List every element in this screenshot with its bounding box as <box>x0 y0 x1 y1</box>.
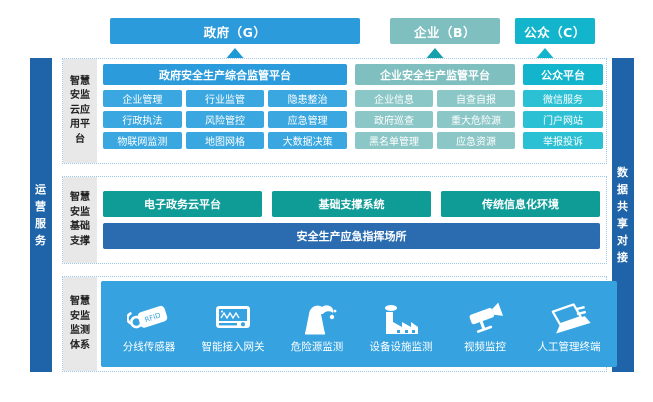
platform-title-public[interactable]: 公众平台 <box>523 64 603 85</box>
layer-1-label-line: 台 <box>75 133 85 148</box>
module-item[interactable]: 地图网格 <box>186 132 265 149</box>
node-label: 分线传感器 <box>123 339 176 354</box>
node-label: 智能接入网关 <box>202 339 265 354</box>
sidebar-operation-service: 运 营 服 务 <box>30 58 52 372</box>
rfid-tag-icon: RFID <box>127 294 171 336</box>
module-item[interactable]: 举报投诉 <box>523 132 603 149</box>
module-item[interactable]: 微信服务 <box>523 90 603 107</box>
layer-monitoring-system: 智慧 安监 监测 体系 RFID <box>62 276 607 372</box>
monitoring-node[interactable]: 智能接入网关 <box>191 294 275 354</box>
layer-2-label-line: 安监 <box>70 206 90 221</box>
layer-1-label-line: 用平 <box>70 118 90 133</box>
monitoring-node[interactable]: 危险源监测 <box>275 294 359 354</box>
enterprise-module-grid: 企业信息 自查自报 政府巡查 重大危险源 黑名单管理 应急资源 <box>355 90 515 149</box>
node-label: 危险源监测 <box>291 339 344 354</box>
node-label: 设备设施监测 <box>370 339 433 354</box>
platform-title-government[interactable]: 政府安全生产综合监管平台 <box>103 64 347 85</box>
column-public-platform: 公众平台 微信服务 门户网站 举报投诉 <box>523 64 603 158</box>
module-item[interactable]: 应急管理 <box>268 111 347 128</box>
hazard-source-icon <box>296 294 338 336</box>
emergency-command-center-bar[interactable]: 安全生产应急指挥场所 <box>103 223 600 249</box>
layer-basic-support: 智慧 安监 基础 支撑 电子政务云平台 基础支撑系统 传统信息化环境 安全生产应… <box>62 176 607 264</box>
monitoring-node-row: RFID 分线传感器 <box>101 281 617 367</box>
layer-1-label-line: 云应 <box>70 104 90 119</box>
module-item[interactable]: 企业信息 <box>355 90 433 107</box>
module-item[interactable]: 黑名单管理 <box>355 132 433 149</box>
node-label: 人工管理终端 <box>538 339 601 354</box>
stakeholder-header-row: 政府（G） 企业（B） 公众（C） <box>0 18 653 46</box>
gateway-device-icon <box>212 294 254 336</box>
layer-3-label: 智慧 安监 监测 体系 <box>63 277 97 371</box>
module-item[interactable]: 自查自报 <box>437 90 515 107</box>
module-item[interactable]: 风险管控 <box>186 111 265 128</box>
header-public[interactable]: 公众（C） <box>515 18 595 44</box>
module-item[interactable]: 物联网监测 <box>103 132 182 149</box>
layer-2-body: 电子政务云平台 基础支撑系统 传统信息化环境 安全生产应急指挥场所 <box>97 177 606 263</box>
layer-3-label-line: 监测 <box>70 324 90 339</box>
module-item[interactable]: 行业监管 <box>186 90 265 107</box>
module-item[interactable]: 门户网站 <box>523 111 603 128</box>
node-label: 视频监控 <box>464 339 506 354</box>
sidebar-left-char: 务 <box>35 232 47 249</box>
support-system-box[interactable]: 传统信息化环境 <box>441 191 600 217</box>
module-item[interactable]: 重大危险源 <box>437 111 515 128</box>
factory-icon <box>380 294 422 336</box>
layer-3-label-line: 安监 <box>70 310 90 325</box>
monitoring-node[interactable]: 人工管理终端 <box>527 294 611 354</box>
support-system-box[interactable]: 基础支撑系统 <box>272 191 431 217</box>
layer-1-label-line: 安监 <box>70 89 90 104</box>
layer-2-label-line: 智慧 <box>70 191 90 206</box>
layer-2-label-line: 支撑 <box>70 235 90 250</box>
architecture-diagram: 政府（G） 企业（B） 公众（C） 运 营 服 务 数 据 共 享 对 接 智慧… <box>0 0 653 402</box>
sidebar-right-char: 享 <box>617 215 629 232</box>
sidebar-right-char: 共 <box>617 198 629 215</box>
header-enterprise[interactable]: 企业（B） <box>390 18 500 44</box>
layer-3-label-line: 体系 <box>70 339 90 354</box>
layer-cloud-application-platform: 智慧 安监 云应 用平 台 政府安全生产综合监管平台 企业管理 行业监管 隐患整… <box>62 58 607 164</box>
layer-1-body: 政府安全生产综合监管平台 企业管理 行业监管 隐患整治 行政执法 风险管控 应急… <box>97 59 609 163</box>
cctv-camera-icon <box>464 294 506 336</box>
module-item[interactable]: 政府巡查 <box>355 111 433 128</box>
sidebar-right-char: 对 <box>617 232 629 249</box>
module-item[interactable]: 应急资源 <box>437 132 515 149</box>
sidebar-left-char: 服 <box>35 215 47 232</box>
sidebar-right-char: 接 <box>617 249 629 266</box>
monitoring-node[interactable]: RFID 分线传感器 <box>107 294 191 354</box>
column-government-platform: 政府安全生产综合监管平台 企业管理 行业监管 隐患整治 行政执法 风险管控 应急… <box>103 64 347 158</box>
sidebar-right-char: 数 <box>617 164 629 181</box>
module-item[interactable]: 大数据决策 <box>268 132 347 149</box>
layer-3-body: RFID 分线传感器 <box>97 277 621 371</box>
layer-3-label-line: 智慧 <box>70 295 90 310</box>
module-item[interactable]: 企业管理 <box>103 90 182 107</box>
laptop-terminal-icon <box>547 294 591 336</box>
monitoring-node[interactable]: 设备设施监测 <box>359 294 443 354</box>
module-item[interactable]: 隐患整治 <box>268 90 347 107</box>
layer-2-label: 智慧 安监 基础 支撑 <box>63 177 97 263</box>
sidebar-right-char: 据 <box>617 181 629 198</box>
public-module-grid: 微信服务 门户网站 举报投诉 <box>523 90 603 149</box>
government-module-grid: 企业管理 行业监管 隐患整治 行政执法 风险管控 应急管理 物联网监测 地图网格… <box>103 90 347 149</box>
platform-title-enterprise[interactable]: 企业安全生产监管平台 <box>355 64 515 85</box>
sidebar-left-char: 营 <box>35 198 47 215</box>
layer-2-label-line: 基础 <box>70 220 90 235</box>
monitoring-node[interactable]: 视频监控 <box>443 294 527 354</box>
layer-1-label: 智慧 安监 云应 用平 台 <box>63 59 97 163</box>
sidebar-left-char: 运 <box>35 181 47 198</box>
header-government[interactable]: 政府（G） <box>110 18 360 44</box>
layer-1-label-line: 智慧 <box>70 75 90 90</box>
module-item[interactable]: 行政执法 <box>103 111 182 128</box>
column-enterprise-platform: 企业安全生产监管平台 企业信息 自查自报 政府巡查 重大危险源 黑名单管理 应急… <box>355 64 515 158</box>
support-system-box[interactable]: 电子政务云平台 <box>103 191 262 217</box>
support-systems-row: 电子政务云平台 基础支撑系统 传统信息化环境 <box>103 191 600 217</box>
